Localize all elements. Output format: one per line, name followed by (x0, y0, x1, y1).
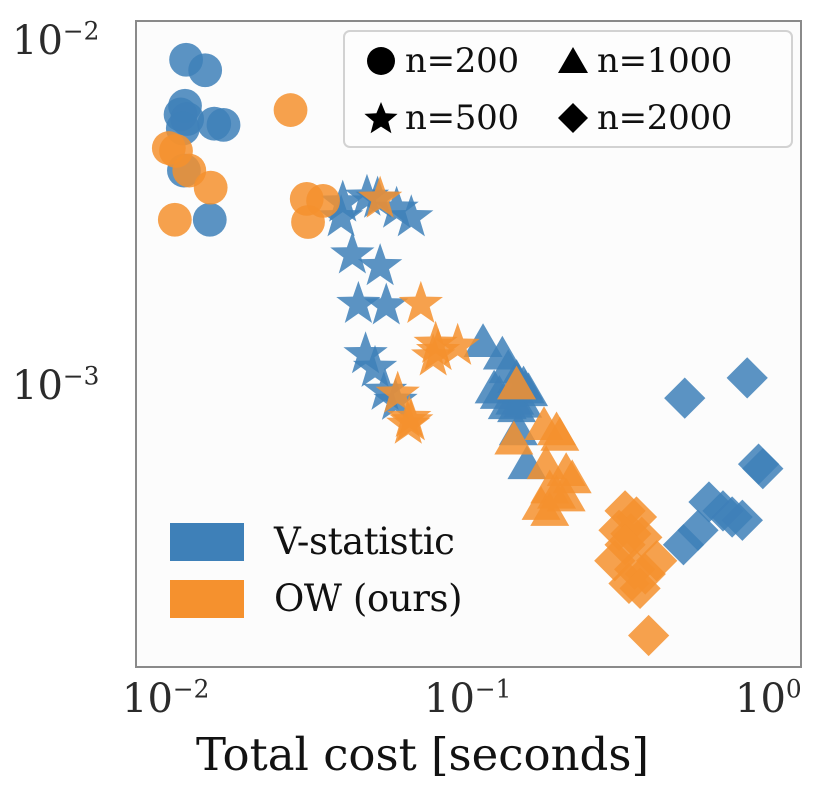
data-point-triangle (475, 370, 514, 404)
data-point-triangle (509, 372, 548, 406)
data-point-star (387, 395, 431, 437)
data-point-diamond (604, 490, 645, 531)
data-point-circle (207, 108, 241, 142)
data-point-diamond (621, 517, 662, 558)
data-point-circle (167, 154, 201, 188)
data-point-triangle (489, 349, 528, 383)
data-point-triangle (547, 478, 586, 512)
data-point-star (363, 368, 407, 410)
legend-circle-icon (359, 44, 403, 78)
series-label-v-statistic: V-statistic (274, 520, 454, 563)
data-point-diamond (616, 496, 657, 537)
legend-triangle-icon (551, 44, 595, 78)
legend-diamond-icon (551, 101, 595, 135)
data-point-triangle (499, 411, 538, 445)
data-point-triangle (522, 486, 561, 520)
legend-label-n200: n=200 (403, 41, 551, 81)
data-point-circle (306, 184, 340, 218)
data-point-diamond (614, 549, 655, 590)
data-point-triangle (553, 459, 592, 493)
data-point-triangle (547, 452, 586, 486)
data-point-diamond (636, 540, 677, 581)
data-point-triangle (497, 388, 536, 422)
data-point-star (353, 345, 397, 387)
data-point-diamond (742, 448, 783, 489)
legend-label-n1000: n=1000 (595, 41, 779, 81)
data-point-star (411, 333, 455, 375)
data-point-star (345, 174, 389, 216)
data-point-star (376, 371, 420, 413)
data-point-star (321, 180, 365, 222)
data-point-star (330, 231, 374, 273)
data-point-triangle (464, 323, 503, 357)
data-point-triangle (503, 384, 542, 418)
data-point-circle (274, 93, 308, 127)
data-point-circle (170, 102, 204, 136)
data-point-triangle (537, 475, 576, 509)
data-point-circle (168, 89, 202, 123)
data-point-diamond (608, 563, 649, 604)
data-point-triangle (507, 445, 546, 479)
data-point-star (416, 328, 460, 370)
data-point-circle (291, 205, 325, 239)
data-point-star (436, 323, 480, 365)
data-point-circle (152, 131, 186, 165)
data-point-circle (158, 203, 192, 237)
x-tick-label-1e-2: 10−2 (122, 676, 209, 722)
data-point-circle (172, 154, 206, 188)
data-point-triangle (525, 406, 564, 440)
series-color-swatch-blue (170, 523, 244, 561)
data-point-triangle (537, 411, 576, 445)
legend-label-n500: n=500 (403, 98, 551, 138)
data-point-triangle (483, 336, 522, 370)
series-legend: V-statistic OW (ours) (170, 520, 462, 634)
data-point-triangle (527, 445, 566, 479)
data-point-diamond (712, 496, 753, 537)
data-point-diamond (677, 510, 718, 551)
data-point-star (358, 243, 402, 285)
data-point-circle (290, 182, 324, 216)
data-point-triangle (530, 492, 569, 526)
data-point-triangle (504, 366, 543, 400)
data-point-diamond (594, 540, 635, 581)
data-point-star (389, 398, 433, 440)
data-point-star (364, 282, 408, 324)
series-legend-item-v-statistic: V-statistic (170, 520, 462, 563)
data-point-star (374, 186, 418, 228)
data-point-star (336, 281, 380, 323)
data-point-diamond (610, 513, 651, 554)
data-point-star (399, 281, 443, 323)
y-tick-label-1e-3: 10−3 (12, 363, 99, 409)
data-point-star (414, 321, 458, 363)
data-point-triangle (488, 385, 527, 419)
data-point-diamond (702, 490, 743, 531)
data-point-diamond (625, 553, 666, 594)
data-point-circle (169, 43, 203, 77)
data-point-star (389, 194, 433, 236)
legend-star-icon (359, 100, 403, 136)
data-point-circle (164, 98, 198, 132)
data-point-circle (188, 53, 222, 87)
series-legend-item-ow-ours: OW (ours) (170, 577, 462, 620)
data-point-triangle (494, 421, 533, 455)
data-point-circle (166, 112, 200, 146)
data-point-diamond (688, 481, 729, 522)
data-point-triangle (480, 375, 519, 409)
data-point-star (386, 402, 430, 444)
data-point-star (319, 194, 363, 236)
legend-label-n2000: n=2000 (595, 98, 779, 138)
marker-size-legend: n=200 n=1000 n=500 n=2000 (343, 30, 793, 148)
series-label-ow-ours: OW (ours) (274, 577, 462, 620)
data-point-star (358, 176, 402, 218)
data-point-circle (197, 107, 231, 141)
data-point-circle (159, 134, 193, 168)
data-point-diamond (664, 378, 705, 419)
data-point-diamond (619, 568, 660, 609)
series-color-swatch-orange (170, 580, 244, 618)
data-point-triangle (497, 366, 536, 400)
data-point-diamond (663, 524, 704, 565)
data-point-diamond (598, 510, 639, 551)
data-point-triangle (497, 359, 536, 393)
data-point-triangle (540, 417, 579, 451)
data-point-diamond (628, 615, 669, 656)
data-point-diamond (727, 357, 768, 398)
x-axis-title: Total cost [seconds] (196, 728, 649, 781)
data-point-star (343, 331, 387, 373)
data-point-star (355, 176, 399, 218)
x-tick-label-1e-1: 10−1 (424, 676, 511, 722)
data-point-diamond (738, 444, 779, 485)
data-point-star (373, 378, 417, 420)
data-point-circle (194, 171, 228, 205)
data-point-circle (193, 203, 227, 237)
data-point-triangle (506, 370, 545, 404)
data-point-triangle (530, 470, 569, 504)
data-point-triangle (499, 363, 538, 397)
y-tick-label-1e-2: 10−2 (12, 18, 99, 64)
scatter-plot-figure: 10−2 10−3 10−2 10−1 100 Total cost [seco… (0, 0, 830, 808)
data-point-diamond (722, 500, 763, 541)
data-point-triangle (495, 381, 534, 415)
data-point-diamond (604, 524, 645, 565)
x-tick-label-1e0: 100 (735, 676, 802, 722)
